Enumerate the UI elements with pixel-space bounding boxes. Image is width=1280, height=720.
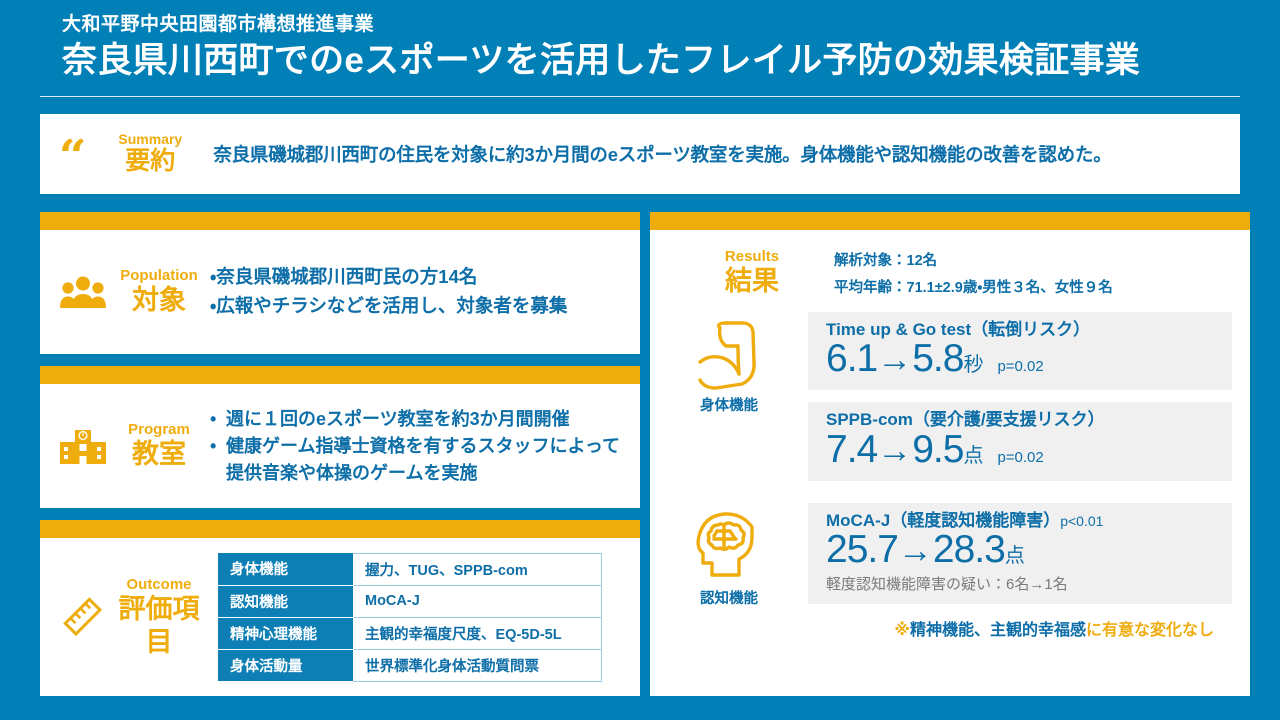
school-building-icon xyxy=(54,426,112,466)
results-label-ja: 結果 xyxy=(692,265,812,297)
results-group-cognitive: 認知機能 MoCA-J（軽度認知機能障害）p<0.01 25.7→28.3点 軽… xyxy=(650,503,1250,641)
outcome-row-value: 世界標準化身体活動質問票 xyxy=(353,649,602,681)
outcome-ident: Outcome 評価項目 xyxy=(40,576,210,658)
summary-label-block: Summary 要約 xyxy=(95,132,205,176)
metric-before: 6.1 xyxy=(826,337,877,380)
outcome-row-key: 身体機能 xyxy=(218,553,353,585)
metric-pvalue-inline: p<0.01 xyxy=(1060,513,1103,529)
physical-metric-boxes: Time up & Go test（転倒リスク） 6.1→5.8秒p=0.02 … xyxy=(808,312,1250,493)
summary-card: “ Summary 要約 奈良県磯城郡川西町の住民を対象に約3か月間のeスポーツ… xyxy=(40,114,1240,194)
outcome-label-en: Outcome xyxy=(112,576,206,593)
card-accent-bar xyxy=(40,366,640,384)
outcome-row-value: MoCA-J xyxy=(353,585,602,617)
program-bullet-2: • 健康ゲーム指導士資格を有するスタッフによって提供音楽や体操のゲームを実施 xyxy=(210,433,630,487)
population-bullets: ・奈良県磯城郡川西町民の方14名 ・広報やチラシなどを活用し、対象者を募集 xyxy=(210,263,640,320)
metric-unit: 点 xyxy=(963,445,983,467)
results-label-en: Results xyxy=(692,248,812,265)
cognitive-icon-label: 認知機能 xyxy=(650,587,808,608)
program-label-ja: 教室 xyxy=(112,438,206,470)
brain-head-icon xyxy=(690,509,768,585)
metric-unit: 点 xyxy=(1005,545,1025,567)
header-subtitle: 大和平野中央田園都市構想推進事業 xyxy=(62,14,1240,37)
results-note: ※精神機能、主観的幸福感に有意な変化なし xyxy=(808,616,1232,640)
metric-value: 6.1→5.8秒p=0.02 xyxy=(826,338,1218,380)
card-accent-bar xyxy=(650,212,1250,230)
results-meta-line-1: 解析対象：12名 xyxy=(834,248,1113,275)
metric-box-moca: MoCA-J（軽度認知機能障害）p<0.01 25.7→28.3点 軽度認知機能… xyxy=(808,503,1232,605)
flexed-arm-icon xyxy=(690,318,768,392)
program-card: Program 教室 • 週に１回のeスポーツ教室を約3か月間開催 • 健康ゲー… xyxy=(40,366,640,508)
summary-label-en: Summary xyxy=(95,132,205,147)
arrow-icon: → xyxy=(877,340,912,379)
summary-label-ja: 要約 xyxy=(95,147,205,176)
card-accent-bar xyxy=(40,212,640,230)
physical-icon-label: 身体機能 xyxy=(650,394,808,415)
results-card: Results 結果 解析対象：12名 平均年齢：71.1±2.9歳・男性３名、… xyxy=(650,212,1250,696)
program-bullets: • 週に１回のeスポーツ教室を約3か月間開催 • 健康ゲーム指導士資格を有するス… xyxy=(210,406,640,487)
bullet-marker-icon: • xyxy=(210,433,226,487)
metric-value: 25.7→28.3点 xyxy=(826,529,1218,571)
arrow-icon: → xyxy=(877,431,912,470)
population-bullet-2: ・広報やチラシなどを活用し、対象者を募集 xyxy=(210,292,630,321)
outcome-row-key: 身体活動量 xyxy=(218,649,353,681)
bullet-marker-icon: • xyxy=(210,406,226,433)
metric-title: Time up & Go test（転倒リスク） xyxy=(826,320,1218,340)
arrow-icon: → xyxy=(898,531,933,570)
metric-value: 7.4→9.5点p=0.02 xyxy=(826,429,1218,471)
metric-before: 25.7 xyxy=(826,528,898,571)
metric-after: 28.3 xyxy=(933,528,1005,571)
note-body: 精神機能、主観的幸福感 xyxy=(910,622,1086,639)
poster-header: 大和平野中央田園都市構想推進事業 奈良県川西町でのeスポーツを活用したフレイル予… xyxy=(0,0,1280,104)
outcome-row-value: 握力、TUG、SPPB-com xyxy=(353,553,602,585)
program-ident: Program 教室 xyxy=(40,421,210,471)
results-meta-line-2: 平均年齢：71.1±2.9歳・男性３名、女性９名 xyxy=(834,275,1113,302)
note-mark-icon: ※ xyxy=(894,622,910,639)
metric-title: SPPB-com（要介護/要支援リスク） xyxy=(826,410,1218,430)
outcome-row-value: 主観的幸福度尺度、EQ-5D-5L xyxy=(353,617,602,649)
cognitive-icon-col: 認知機能 xyxy=(650,503,808,608)
metric-after: 9.5 xyxy=(912,428,963,471)
metric-pvalue: p=0.02 xyxy=(997,358,1043,375)
results-header: Results 結果 解析対象：12名 平均年齢：71.1±2.9歳・男性３名、… xyxy=(650,230,1250,302)
program-bullet-1: • 週に１回のeスポーツ教室を約3か月間開催 xyxy=(210,406,630,433)
table-row: 精神心理機能 主観的幸福度尺度、EQ-5D-5L xyxy=(218,617,602,649)
summary-text: 奈良県磯城郡川西町の住民を対象に約3か月間のeスポーツ教室を実施。身体機能や認知… xyxy=(213,141,1111,167)
card-accent-bar xyxy=(40,520,640,538)
table-row: 身体活動量 世界標準化身体活動質問票 xyxy=(218,649,602,681)
metric-title-text: MoCA-J（軽度認知機能障害） xyxy=(826,511,1060,530)
outcome-row-key: 精神心理機能 xyxy=(218,617,353,649)
outcome-label-ja: 評価項目 xyxy=(112,593,206,658)
outcome-row-key: 認知機能 xyxy=(218,585,353,617)
program-label-en: Program xyxy=(112,421,206,438)
metric-box-tug: Time up & Go test（転倒リスク） 6.1→5.8秒p=0.02 xyxy=(808,312,1232,391)
page-title: 奈良県川西町でのeスポーツを活用したフレイル予防の効果検証事業 xyxy=(62,39,1240,83)
population-bullet-1: ・奈良県磯城郡川西町民の方14名 xyxy=(210,263,630,292)
metric-pvalue: p=0.02 xyxy=(997,449,1043,466)
cognitive-metric-boxes: MoCA-J（軽度認知機能障害）p<0.01 25.7→28.3点 軽度認知機能… xyxy=(808,503,1250,641)
table-row: 身体機能 握力、TUG、SPPB-com xyxy=(218,553,602,585)
header-divider xyxy=(40,96,1240,97)
results-group-physical: 身体機能 Time up & Go test（転倒リスク） 6.1→5.8秒p=… xyxy=(650,312,1250,493)
outcome-card: Outcome 評価項目 身体機能 握力、TUG、SPPB-com 認知機能 M… xyxy=(40,520,640,696)
population-card: Population 対象 ・奈良県磯城郡川西町民の方14名 ・広報やチラシなど… xyxy=(40,212,640,354)
results-meta: 解析対象：12名 平均年齢：71.1±2.9歳・男性３名、女性９名 xyxy=(834,248,1113,302)
metric-before: 7.4 xyxy=(826,428,877,471)
ruler-icon xyxy=(54,594,112,640)
population-label-ja: 対象 xyxy=(112,284,206,316)
population-ident: Population 対象 xyxy=(40,267,210,317)
poster-root: 大和平野中央田園都市構想推進事業 奈良県川西町でのeスポーツを活用したフレイル予… xyxy=(0,0,1280,720)
table-row: 認知機能 MoCA-J xyxy=(218,585,602,617)
metric-subtext: 軽度認知機能障害の疑い：6名→1名 xyxy=(826,573,1218,594)
people-group-icon xyxy=(54,275,112,309)
outcome-table: 身体機能 握力、TUG、SPPB-com 認知機能 MoCA-J 精神心理機能 … xyxy=(218,553,602,682)
quote-mark-icon: “ xyxy=(59,135,87,179)
metric-unit: 秒 xyxy=(963,354,983,376)
population-label-en: Population xyxy=(112,267,206,284)
physical-icon-col: 身体機能 xyxy=(650,312,808,415)
note-tail: に有意な変化なし xyxy=(1086,622,1214,639)
metric-after: 5.8 xyxy=(912,337,963,380)
metric-box-sppb: SPPB-com（要介護/要支援リスク） 7.4→9.5点p=0.02 xyxy=(808,402,1232,481)
